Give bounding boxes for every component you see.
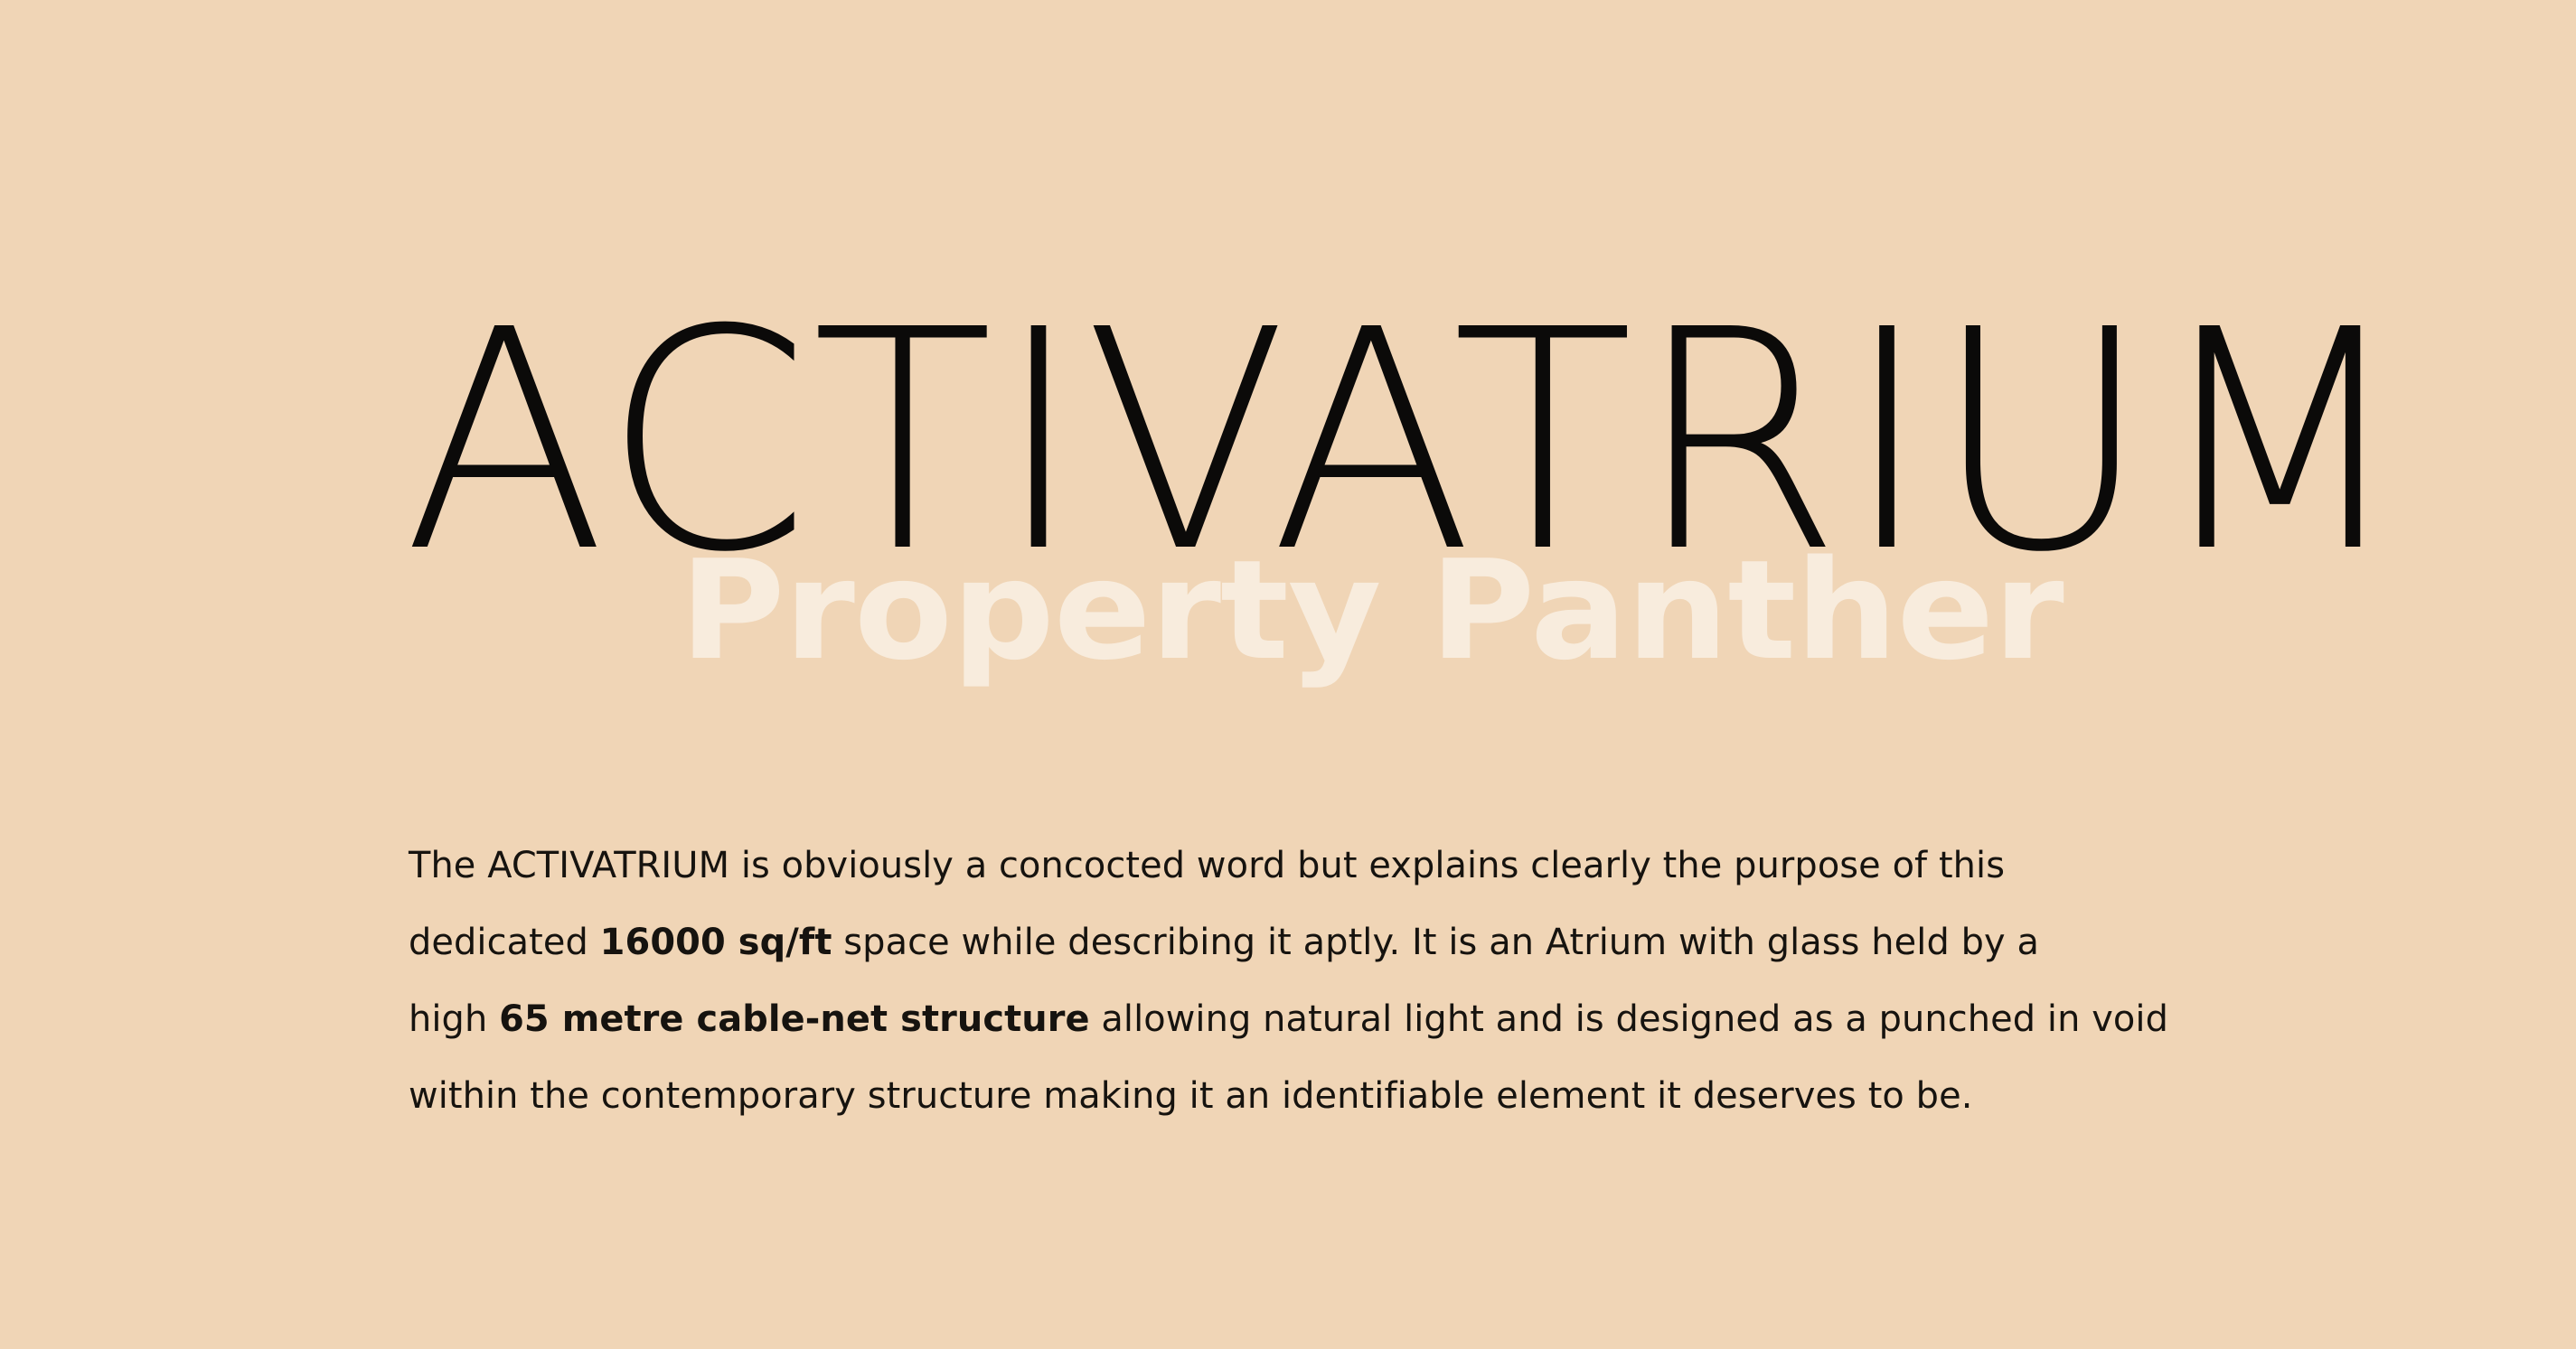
page-title: ACTIVATRIUM (403, 291, 2409, 595)
body-text: The ACTIVATRIUM is obviously a concocted… (409, 845, 2005, 886)
emphasis-text: 16000 sq/ft (600, 922, 832, 963)
body-text: dedicated (409, 922, 600, 963)
description-paragraph: The ACTIVATRIUM is obviously a concocted… (409, 828, 2225, 1135)
emphasis-text: 65 metre cable-net structure (499, 998, 1090, 1040)
page-title-text: ACTIVATRIUM (403, 291, 2410, 595)
body-text: allowing natural light and is designed a… (1090, 998, 2168, 1040)
paragraph-line: The ACTIVATRIUM is obviously a concocted… (409, 828, 2219, 904)
paragraph-line: high 65 metre cable-net structure allowi… (409, 981, 2219, 1058)
body-text: high (409, 998, 499, 1040)
hero-section: Property Panther ACTIVATRIUM The ACTIVAT… (0, 0, 2576, 1349)
paragraph-line: dedicated 16000 sq/ft space while descri… (409, 904, 2219, 981)
body-text: within the contemporary structure making… (409, 1075, 1972, 1117)
body-text: space while describing it aptly. It is a… (832, 922, 2039, 963)
paragraph-line: within the contemporary structure making… (409, 1058, 2219, 1135)
